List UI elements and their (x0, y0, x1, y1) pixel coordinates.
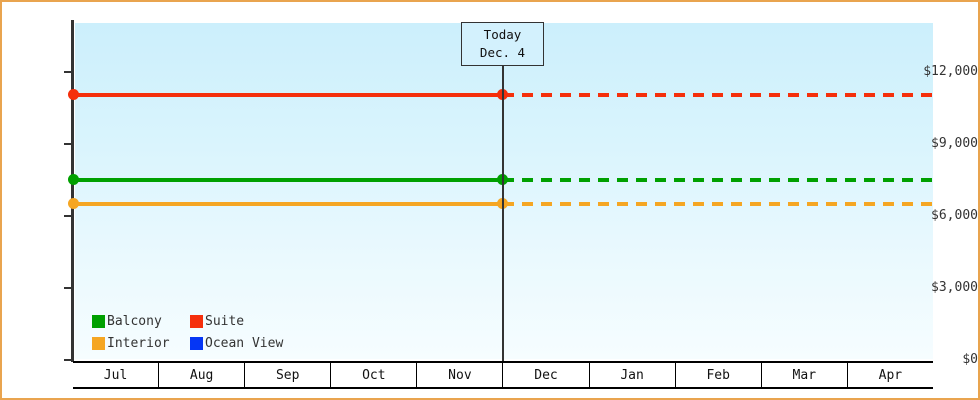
y-tick-label-3000: $3,000 (916, 280, 978, 295)
x-axis-month-cell[interactable]: Sep (245, 363, 331, 387)
y-tick-9000 (64, 143, 73, 145)
x-axis-month-cell[interactable]: Feb (676, 363, 762, 387)
x-axis-month-cell[interactable]: Apr (848, 363, 933, 387)
series-line-interior-solid (73, 202, 503, 206)
series-line-balcony-dashed (503, 178, 933, 182)
y-tick-6000 (64, 215, 73, 217)
legend-item-interior[interactable]: Interior (92, 336, 190, 351)
series-line-balcony-solid (73, 178, 503, 182)
legend-swatch-interior (92, 337, 105, 350)
legend-item-suite[interactable]: Suite (190, 314, 288, 329)
series-line-suite-dashed (503, 93, 933, 97)
today-vertical-line (502, 65, 504, 361)
series-line-suite-solid (73, 93, 503, 97)
y-tick-12000 (64, 71, 73, 73)
x-axis-month-cell[interactable]: Nov (417, 363, 503, 387)
series-marker-balcony (68, 174, 79, 185)
y-tick-label-9000: $9,000 (916, 136, 978, 151)
x-axis-month-cell[interactable]: Jan (590, 363, 676, 387)
y-tick-label-12000: $12,000 (916, 64, 978, 79)
legend-item-balcony[interactable]: Balcony (92, 314, 190, 329)
today-label-line2: Dec. 4 (462, 44, 543, 62)
x-axis-month-cell[interactable]: Aug (159, 363, 245, 387)
x-axis-month-cell[interactable]: Jul (73, 363, 159, 387)
legend-swatch-ocean-view (190, 337, 203, 350)
legend-item-ocean-view[interactable]: Ocean View (190, 336, 288, 351)
series-marker-suite (68, 89, 79, 100)
y-tick-label-6000: $6,000 (916, 208, 978, 223)
legend-row-2: Interior Ocean View (92, 332, 322, 354)
today-label-line1: Today (462, 26, 543, 44)
x-axis-month-cell[interactable]: Oct (331, 363, 417, 387)
legend-label-suite: Suite (205, 314, 244, 329)
y-tick-0 (64, 359, 73, 361)
series-marker-interior (68, 198, 79, 209)
x-axis-month-cell[interactable]: Dec (503, 363, 589, 387)
legend-label-interior: Interior (107, 336, 170, 351)
legend-swatch-suite (190, 315, 203, 328)
x-axis-month-bar: Jul Aug Sep Oct Nov Dec Jan Feb Mar Apr (73, 361, 933, 389)
legend-label-ocean-view: Ocean View (205, 336, 283, 351)
legend-row-1: Balcony Suite (92, 310, 322, 332)
legend-swatch-balcony (92, 315, 105, 328)
y-tick-3000 (64, 287, 73, 289)
series-line-interior-dashed (503, 202, 933, 206)
chart-legend: Balcony Suite Interior Ocean View (92, 310, 322, 354)
plot-area (75, 23, 933, 359)
today-annotation-box: Today Dec. 4 (461, 22, 544, 66)
chart-page: $12,000 $9,000 $6,000 $3,000 $0 Today De… (0, 0, 980, 400)
x-axis-month-cell[interactable]: Mar (762, 363, 848, 387)
legend-label-balcony: Balcony (107, 314, 162, 329)
